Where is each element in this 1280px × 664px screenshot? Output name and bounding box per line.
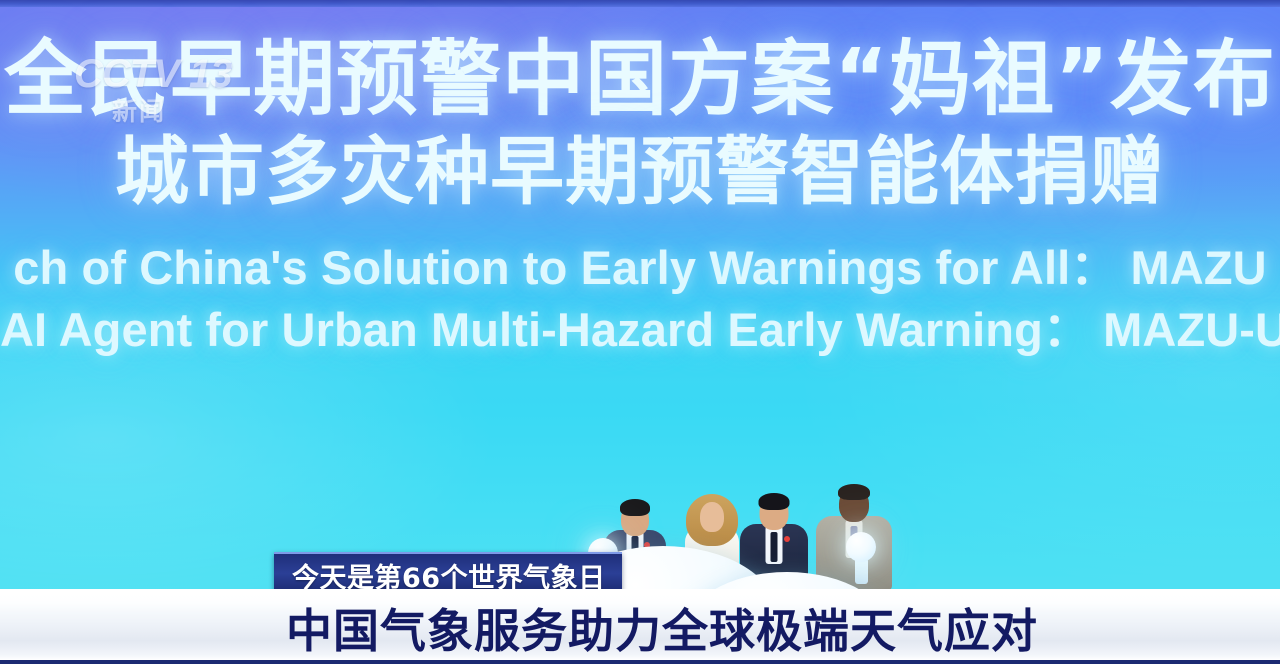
lower-third-headline-text: 中国气象服务助力全球极端天气应对: [286, 600, 1038, 662]
person-3-hair: [759, 493, 790, 510]
person-4-hair: [838, 484, 870, 500]
wall-top-edge: [0, 0, 1280, 7]
broadcast-frame: 全民早期预警中国方案“妈祖”发布 城市多灾种早期预警智能体捐赠 ch of Ch…: [0, 0, 1280, 664]
person-3-lapel-badge: [784, 536, 790, 542]
lower-third: 今天是第66个世界气象日 中国气象服务助力全球极端天气应对: [0, 548, 1280, 664]
person-2-face: [700, 502, 724, 532]
person-1-hair: [620, 499, 650, 516]
